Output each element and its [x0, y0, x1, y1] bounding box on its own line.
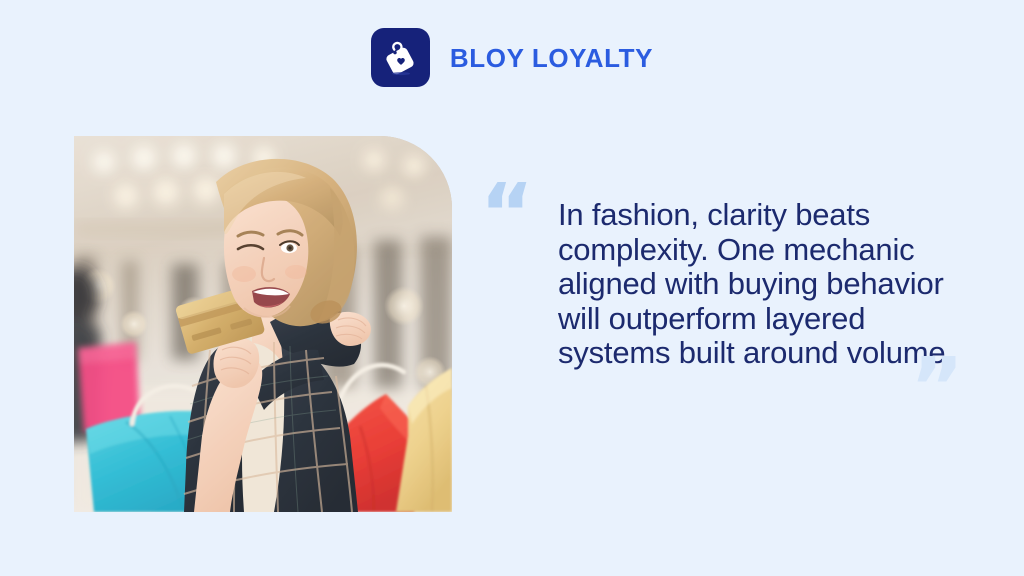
hero-photo-illustration	[74, 136, 452, 512]
quote-block: “ In fashion, clarity beats complexity. …	[478, 180, 998, 430]
logo-badge	[371, 28, 430, 87]
brand-name: BLOY LOYALTY	[450, 45, 653, 71]
price-tag-heart-icon	[380, 38, 420, 78]
hero-photo	[74, 136, 452, 512]
quote-open-mark: “	[480, 174, 534, 256]
slide-canvas: BLOY LOYALTY	[0, 0, 1024, 576]
brand-header: BLOY LOYALTY	[0, 28, 1024, 87]
quote-close-mark: ”	[910, 348, 964, 430]
